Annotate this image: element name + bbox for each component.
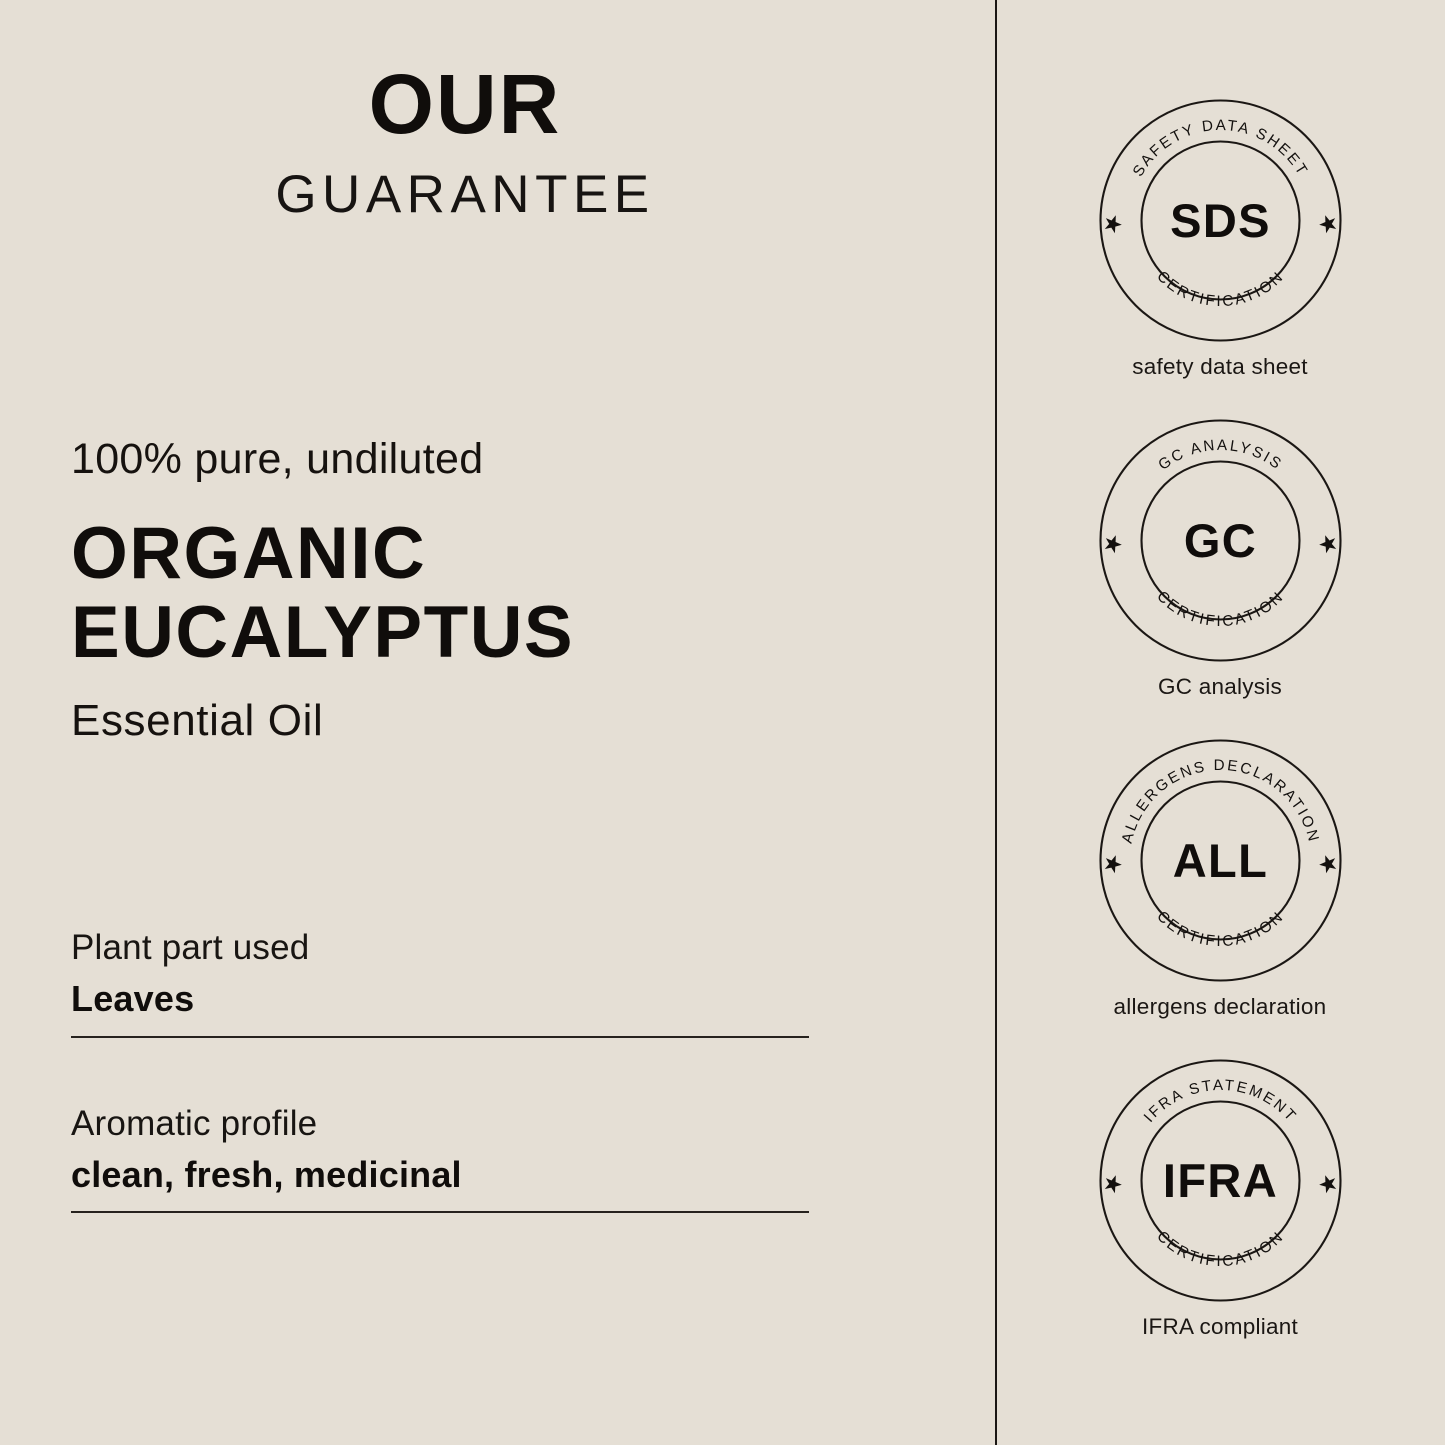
attribute-row-plant-part: Plant part used Leaves <box>71 928 809 1038</box>
attribute-row-aromatic-profile: Aromatic profile clean, fresh, medicinal <box>71 1104 809 1214</box>
badge-core-text: IFRA <box>1162 1154 1277 1207</box>
star-icon-left <box>1104 535 1121 553</box>
badge-core-text: ALL <box>1172 834 1268 887</box>
page-header: OUR GUARANTEE <box>0 62 930 221</box>
svg-text:CERTIFICATION: CERTIFICATION <box>1153 908 1287 950</box>
seal-stamp-icon: SAFETY DATA SHEET CERTIFICATION SDS <box>1098 98 1343 343</box>
attribute-label: Plant part used <box>71 928 809 968</box>
badge-caption: allergens declaration <box>995 993 1445 1020</box>
certification-column: SAFETY DATA SHEET CERTIFICATION SDS safe… <box>995 0 1445 1445</box>
star-icon-right <box>1319 855 1336 873</box>
badge-arc-bottom-text: CERTIFICATION <box>1153 268 1287 310</box>
badge-arc-top-text: ALLERGENS DECLARATION <box>1118 757 1322 845</box>
badge-arc-bottom-text: CERTIFICATION <box>1153 908 1287 950</box>
badge-arc-bottom-text: CERTIFICATION <box>1153 1228 1287 1270</box>
svg-text:CERTIFICATION: CERTIFICATION <box>1153 588 1287 630</box>
seal-stamp-icon: IFRA STATEMENT CERTIFICATION IFRA <box>1098 1058 1343 1303</box>
attribute-list: Plant part used Leaves Aromatic profile … <box>71 928 809 1213</box>
page-title-primary: OUR <box>0 62 930 146</box>
svg-text:CERTIFICATION: CERTIFICATION <box>1153 1228 1287 1270</box>
badge-caption: safety data sheet <box>995 353 1445 380</box>
badge-arc-top-text: GC ANALYSIS <box>1155 437 1286 474</box>
badge-arc-top-text: SAFETY DATA SHEET <box>1129 117 1311 180</box>
badge-caption: GC analysis <box>995 673 1445 700</box>
attribute-value: clean, fresh, medicinal <box>71 1154 809 1195</box>
product-intro: 100% pure, undiluted ORGANIC EUCALYPTUS … <box>71 438 931 743</box>
svg-text:ALLERGENS DECLARATION: ALLERGENS DECLARATION <box>1118 757 1322 845</box>
star-icon-left <box>1104 215 1121 233</box>
product-name-line1: ORGANIC <box>71 513 426 594</box>
star-icon-left <box>1104 1175 1121 1193</box>
product-tagline: 100% pure, undiluted <box>71 438 931 481</box>
certification-badge: SAFETY DATA SHEET CERTIFICATION SDS safe… <box>995 98 1445 380</box>
star-icon-right <box>1319 535 1336 553</box>
attribute-label: Aromatic profile <box>71 1104 809 1144</box>
certification-badge-list: SAFETY DATA SHEET CERTIFICATION SDS safe… <box>995 98 1445 1378</box>
star-icon-right <box>1319 215 1336 233</box>
page-title-secondary: GUARANTEE <box>0 168 930 221</box>
badge-core-text: SDS <box>1170 194 1271 247</box>
product-name: ORGANIC EUCALYPTUS <box>71 515 931 673</box>
certification-badge: ALLERGENS DECLARATION CERTIFICATION ALL … <box>995 738 1445 1020</box>
seal-stamp-icon: GC ANALYSIS CERTIFICATION GC <box>1098 418 1343 663</box>
infographic-page: OUR GUARANTEE 100% pure, undiluted ORGAN… <box>0 0 1445 1445</box>
attribute-value: Leaves <box>71 978 809 1019</box>
star-icon-right <box>1319 1175 1336 1193</box>
certification-badge: IFRA STATEMENT CERTIFICATION IFRA IFRA c… <box>995 1058 1445 1340</box>
svg-text:GC ANALYSIS: GC ANALYSIS <box>1155 437 1286 474</box>
seal-stamp-icon: ALLERGENS DECLARATION CERTIFICATION ALL <box>1098 738 1343 983</box>
star-icon-left <box>1104 855 1121 873</box>
svg-text:CERTIFICATION: CERTIFICATION <box>1153 268 1287 310</box>
badge-caption: IFRA compliant <box>995 1313 1445 1340</box>
product-type: Essential Oil <box>71 699 931 743</box>
svg-text:SAFETY DATA SHEET: SAFETY DATA SHEET <box>1129 117 1311 180</box>
product-name-line2: EUCALYPTUS <box>71 594 931 673</box>
badge-arc-bottom-text: CERTIFICATION <box>1153 588 1287 630</box>
badge-core-text: GC <box>1183 514 1256 567</box>
certification-badge: GC ANALYSIS CERTIFICATION GC GC analysis <box>995 418 1445 700</box>
left-content-column: OUR GUARANTEE 100% pure, undiluted ORGAN… <box>0 0 995 1445</box>
